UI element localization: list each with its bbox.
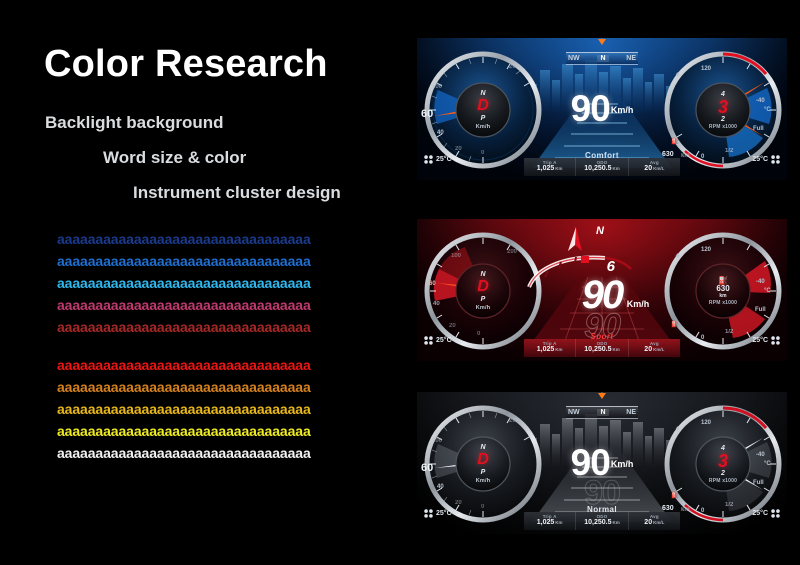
speedo-tick-200: 200: [509, 64, 519, 70]
speedometer-dial: [423, 231, 543, 351]
coolant-temp-min: -40: [756, 279, 765, 285]
fuel-half-label: 1/2: [725, 502, 733, 508]
color-swatch-row-orange: aaaaaaaaaaaaaaaaaaaaaaaaaaaaaaaaa: [57, 376, 397, 398]
instrument-cluster-column: NW N NE 90Km/h 90 Comfort: [411, 0, 800, 565]
speedo-tick-20: 20: [455, 500, 462, 506]
speedo-tick-200: 200: [509, 418, 519, 424]
speedo-tick-40: 40: [437, 130, 444, 136]
hvac-right-temp: 25°C: [752, 510, 768, 517]
speedo-tick-40: 40: [437, 484, 444, 490]
color-swatch-row-white: aaaaaaaaaaaaaaaaaaaaaaaaaaaaaaaaa: [57, 442, 397, 464]
driving-range-value: 630: [662, 151, 674, 158]
fuel-full-label: Full: [753, 126, 764, 132]
gear-arc-graphic: [525, 255, 635, 289]
trip-computer-strip[interactable]: Trip A 1,025Km ODO 10,250.5Km Avg 20Km/L: [524, 512, 680, 530]
color-swatch-row-magenta-rose: aaaaaaaaaaaaaaaaaaaaaaaaaaaaaaaaa: [57, 294, 397, 316]
speedo-tick-100: 100: [432, 438, 442, 444]
engine-temp-icon: ⚘: [675, 253, 680, 260]
trip-cell-avg: Avg 20Km/L: [629, 339, 680, 357]
hvac-left-temp: 25°C: [436, 156, 452, 163]
speedo-tick-100: 100: [432, 84, 442, 90]
trip-cell-trip-a: Trip A 1,025Km: [524, 512, 576, 530]
color-swatch-row-dark-red: aaaaaaaaaaaaaaaaaaaaaaaaaaaaaaaaa: [57, 316, 397, 338]
tachometer-gauge[interactable]: ⛽ 630 km RPM x1000 120 ⚘ -40 °C Full 1/2…: [663, 231, 783, 351]
hvac-left-temp: 25°C: [436, 510, 452, 517]
speedo-tick-200: 200: [507, 249, 517, 255]
driving-range-unit: km: [681, 153, 690, 159]
slide-canvas: Color Research Backlight background Word…: [0, 0, 800, 565]
compass-needle-widget: N: [562, 225, 606, 255]
hvac-left-zone[interactable]: 25°C: [424, 336, 452, 345]
hvac-right-zone[interactable]: 25°C: [752, 336, 780, 345]
digital-speed-readout: 90Km/h: [571, 90, 634, 127]
compass-tick-ne: NE: [626, 55, 636, 62]
fan-icon: [771, 509, 780, 518]
compass-tick-nw: NW: [568, 409, 580, 416]
speed-value: 90: [571, 88, 610, 129]
hvac-left-temp: 25°C: [436, 337, 452, 344]
color-swatch-row-amber-gold: aaaaaaaaaaaaaaaaaaaaaaaaaaaaaaaaa: [57, 398, 397, 420]
trip-cell-trip-a: Trip A 1,025Km: [524, 339, 576, 357]
fuel-full-label: Full: [755, 307, 766, 313]
compass-strip: NW N NE: [566, 406, 638, 419]
fuel-full-label: Full: [753, 480, 764, 486]
compass-needle-icon: [598, 39, 606, 45]
hvac-right-temp: 25°C: [752, 156, 768, 163]
engine-temp-icon: ⚘: [675, 72, 680, 79]
hvac-left-zone[interactable]: 25°C: [424, 509, 452, 518]
low-fuel-warning-icon: ⛽: [671, 321, 678, 328]
avg-value: 20Km/L: [644, 346, 664, 354]
speedo-tick-20: 20: [455, 146, 462, 152]
speedometer-gauge[interactable]: N D P Km/h 60 40 20 0 100 200: [423, 231, 543, 351]
instrument-cluster-comfort[interactable]: NW N NE 90Km/h 90 Comfort: [417, 38, 787, 180]
speed-unit: Km/h: [611, 105, 634, 115]
compass-strip: NW N NE: [566, 52, 638, 65]
fan-icon: [424, 155, 433, 164]
color-swatch-row-yellow: aaaaaaaaaaaaaaaaaaaaaaaaaaaaaaaaa: [57, 420, 397, 442]
trip-computer-strip[interactable]: Trip A 1,025Km ODO 10,250.5Km Avg 20Km/L: [524, 158, 680, 176]
color-swatch-row-dark-navy-blue: aaaaaaaaaaaaaaaaaaaaaaaaaaaaaaaaa: [57, 228, 397, 250]
hvac-right-zone[interactable]: 25°C: [752, 509, 780, 518]
page-title: Color Research: [44, 43, 328, 86]
odo-value: 10,250.5Km: [584, 519, 620, 527]
compass-heading-ribbon: NW N NE: [566, 399, 638, 419]
fuel-empty-label: 0: [701, 335, 704, 341]
speedo-tick-60: 60: [421, 462, 433, 474]
fuel-half-label: 1/2: [725, 148, 733, 154]
coolant-temp-max: 120: [701, 66, 711, 72]
odo-value: 10,250.5Km: [584, 346, 620, 354]
gear-shift-indicator: 6: [525, 255, 635, 289]
instrument-cluster-normal[interactable]: NW N NE 90Km/h 90 Normal: [417, 392, 787, 534]
hvac-left-zone[interactable]: 25°C: [424, 155, 452, 164]
avg-value: 20Km/L: [644, 165, 664, 173]
compass-tick-nw: NW: [568, 55, 580, 62]
current-gear-number: 6: [607, 258, 615, 275]
trip-a-value: 1,025Km: [537, 346, 563, 354]
trip-cell-odo: ODO 10,250.5Km: [576, 512, 628, 530]
subtitle-word-size-color: Word size & color: [103, 148, 246, 168]
speed-unit: Km/h: [627, 300, 650, 309]
digital-speed-readout: 90Km/h: [571, 444, 634, 481]
compass-tick-ne: NE: [626, 409, 636, 416]
tachometer-gauge[interactable]: 4 3 2 RPM x1000 120 ⚘ -40 °C Full 1/2 0 …: [663, 50, 783, 170]
coolant-temp-min: -40: [756, 452, 765, 458]
temp-unit-label: °C: [764, 288, 771, 294]
trip-cell-odo: ODO 10,250.5Km: [576, 339, 628, 357]
fan-icon: [424, 336, 433, 345]
fan-icon: [771, 336, 780, 345]
trip-cell-trip-a: Trip A 1,025Km: [524, 158, 576, 176]
color-swatch-row-bright-red: aaaaaaaaaaaaaaaaaaaaaaaaaaaaaaaaa: [57, 354, 397, 376]
speedometer-gauge[interactable]: N D P Km/h 60 40 20 0 100 200: [423, 404, 543, 524]
temp-unit-label: °C: [764, 107, 771, 113]
fuel-pump-icon: ⛽: [671, 492, 678, 499]
speed-unit: Km/h: [611, 459, 634, 469]
instrument-cluster-sport[interactable]: N 6 90Km/h: [417, 219, 787, 361]
avg-value: 20Km/L: [644, 519, 664, 527]
fan-icon: [424, 509, 433, 518]
driving-range-value: 630: [662, 505, 674, 512]
hvac-right-temp: 25°C: [752, 337, 768, 344]
temp-unit-label: °C: [764, 461, 771, 467]
fuel-pump-icon: ⛽: [671, 138, 678, 145]
speedo-tick-0: 0: [477, 331, 480, 337]
hvac-right-zone[interactable]: 25°C: [752, 155, 780, 164]
speedo-tick-60: 60: [429, 281, 436, 287]
text-column: Color Research Backlight background Word…: [0, 0, 400, 565]
trip-a-value: 1,025Km: [537, 519, 563, 527]
trip-cell-avg: Avg 20Km/L: [629, 512, 680, 530]
coolant-temp-max: 120: [701, 247, 711, 253]
coolant-temp-max: 120: [701, 420, 711, 426]
engine-temp-icon: ⚘: [675, 426, 680, 433]
speedometer-gauge[interactable]: N D P Km/h 60 40 20 0 100 200: [423, 50, 543, 170]
compass-heading-ribbon: NW N NE: [566, 45, 638, 65]
speedo-tick-20: 20: [449, 323, 456, 329]
color-swatch-row-blue: aaaaaaaaaaaaaaaaaaaaaaaaaaaaaaaaa: [57, 250, 397, 272]
speedo-tick-0: 0: [481, 150, 484, 156]
trip-cell-avg: Avg 20Km/L: [629, 158, 680, 176]
compass-needle-icon: [598, 393, 606, 399]
speed-value: 90: [571, 442, 610, 483]
subtitle-backlight-background: Backlight background: [45, 113, 224, 133]
trip-computer-strip[interactable]: Trip A 1,025Km ODO 10,250.5Km Avg 20Km/L: [524, 339, 680, 357]
subtitle-instrument-cluster-design: Instrument cluster design: [133, 183, 341, 203]
trip-a-value: 1,025Km: [537, 165, 563, 173]
speedo-tick-100: 100: [451, 253, 461, 259]
driving-range-unit: km: [681, 507, 690, 513]
fuel-empty-label: 0: [701, 154, 704, 160]
fuel-half-label: 1/2: [725, 329, 733, 335]
compass-tick-n: N: [597, 55, 608, 62]
color-swatch-row-cyan: aaaaaaaaaaaaaaaaaaaaaaaaaaaaaaaaa: [57, 272, 397, 294]
tachometer-gauge[interactable]: 4 3 2 RPM x1000 120 ⚘ -40 °C Full 1/2 0 …: [663, 404, 783, 524]
fuel-empty-label: 0: [701, 508, 704, 514]
coolant-temp-min: -40: [756, 98, 765, 104]
compass-tick-n: N: [597, 409, 608, 416]
trip-cell-odo: ODO 10,250.5Km: [576, 158, 628, 176]
compass-north-label: N: [596, 225, 604, 237]
color-swatch-stack: aaaaaaaaaaaaaaaaaaaaaaaaaaaaaaaaa aaaaaa…: [57, 228, 397, 464]
fan-icon: [771, 155, 780, 164]
odo-value: 10,250.5Km: [584, 165, 620, 173]
speedo-tick-60: 60: [421, 108, 433, 120]
speedo-tick-40: 40: [433, 301, 440, 307]
speedo-tick-0: 0: [481, 504, 484, 510]
